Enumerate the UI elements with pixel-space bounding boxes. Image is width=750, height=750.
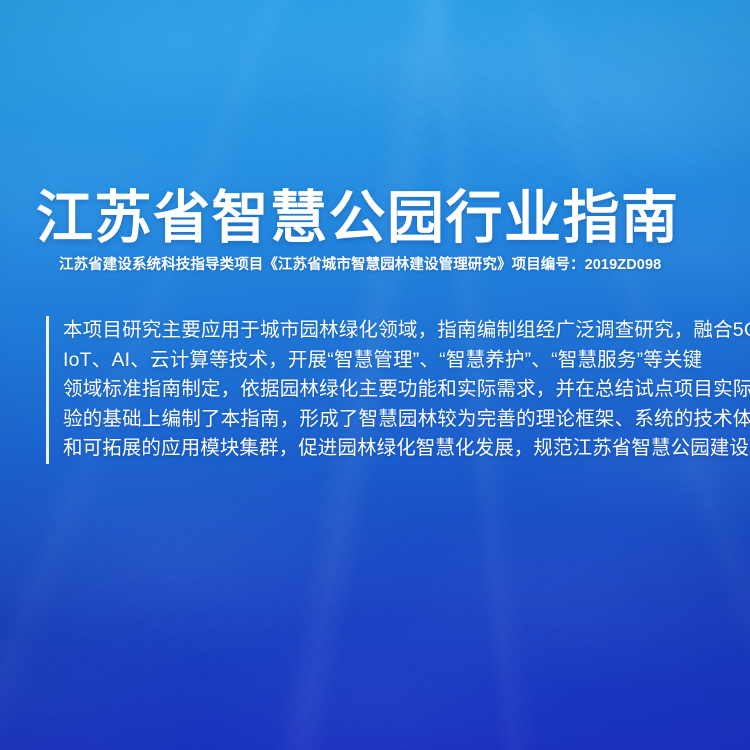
body-line-5: 和可拓展的应用模块集群，促进园林绿化智慧化发展，规范江苏省智慧公园建设。 [63,434,714,464]
body-line-4: 验的基础上编制了本指南，形成了智慧园林较为完善的理论框架、系统的技术体系 [63,405,714,435]
body-line-2: IoT、AI、云计算等技术，开展“智慧管理”、“智慧养护”、“智慧服务”等关键 [63,346,714,376]
poster-canvas: 江苏省智慧公园行业指南 江苏省建设系统科技指导类项目《江苏省城市智慧园林建设管理… [0,0,750,750]
body-line-1: 本项目研究主要应用于城市园林绿化领域，指南编制组经广泛调查研究，融合5G、 [63,316,714,346]
body-line-3: 领域标准指南制定，依据园林绿化主要功能和实际需求，并在总结试点项目实际经 [63,375,714,405]
poster-body-block: 本项目研究主要应用于城市园林绿化领域，指南编制组经广泛调查研究，融合5G、 Io… [46,316,714,464]
poster-subtitle: 江苏省建设系统科技指导类项目《江苏省城市智慧园林建设管理研究》项目编号：2019… [59,256,719,274]
poster-title: 江苏省智慧公园行业指南 [36,190,716,247]
